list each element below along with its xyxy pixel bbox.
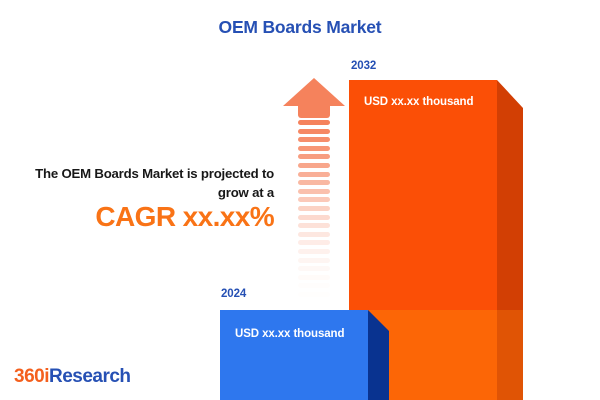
growth-statement-line1: The OEM Boards Market is projected: [35, 166, 258, 181]
arrow-stripe: [298, 258, 330, 263]
arrow-stripe: [298, 223, 330, 228]
bar-2024-front: [220, 310, 368, 400]
bar-2032-side-upper: [497, 80, 523, 310]
arrow-stripe: [298, 163, 330, 168]
arrow-stripe: [298, 275, 330, 280]
arrow-stripe: [298, 120, 330, 125]
bar-2024-value-label: USD xx.xx thousand: [235, 328, 344, 340]
arrow-stripe: [298, 137, 330, 142]
bar-2032-side-lower: [497, 310, 523, 400]
bar-2032-value-label: USD xx.xx thousand: [364, 96, 473, 108]
arrow-stripe: [298, 240, 330, 245]
arrow-stripe: [298, 180, 330, 185]
growth-arrow-up-icon: [283, 78, 345, 290]
arrow-head: [283, 78, 345, 118]
brand-logo-mark: 360i: [14, 366, 49, 387]
page-title: OEM Boards Market: [0, 17, 600, 38]
brand-logo[interactable]: 360iResearch: [14, 366, 131, 388]
arrow-stripe: [298, 283, 330, 288]
arrow-stripe: [298, 146, 330, 151]
arrow-stripe: [298, 266, 330, 271]
arrow-stripe: [298, 154, 330, 159]
arrow-stripe: [298, 189, 330, 194]
arrow-stripe: [298, 215, 330, 220]
brand-logo-name: Research: [49, 366, 131, 387]
arrow-stripe: [298, 197, 330, 202]
bar-2024[interactable]: [220, 310, 368, 400]
arrow-stripe: [298, 206, 330, 211]
cagr-value: CAGR xx.xx%: [12, 201, 274, 233]
arrow-stripe: [298, 172, 330, 177]
arrow-shaft-stripes: [298, 120, 330, 290]
arrow-stripe: [298, 249, 330, 254]
arrow-stripe: [298, 292, 330, 297]
growth-statement: The OEM Boards Market is projected to gr…: [12, 165, 274, 202]
arrow-stripe: [298, 129, 330, 134]
bar-2024-year-label: 2024: [221, 288, 246, 300]
arrow-head-neck: [298, 105, 330, 118]
bar-2032-front-upper: [349, 80, 497, 310]
infographic-canvas: OEM Boards Market The OEM Boards Market …: [0, 0, 600, 400]
bar-2032-year-label: 2032: [351, 60, 376, 72]
arrow-head-triangle: [283, 78, 345, 106]
arrow-stripe: [298, 232, 330, 237]
